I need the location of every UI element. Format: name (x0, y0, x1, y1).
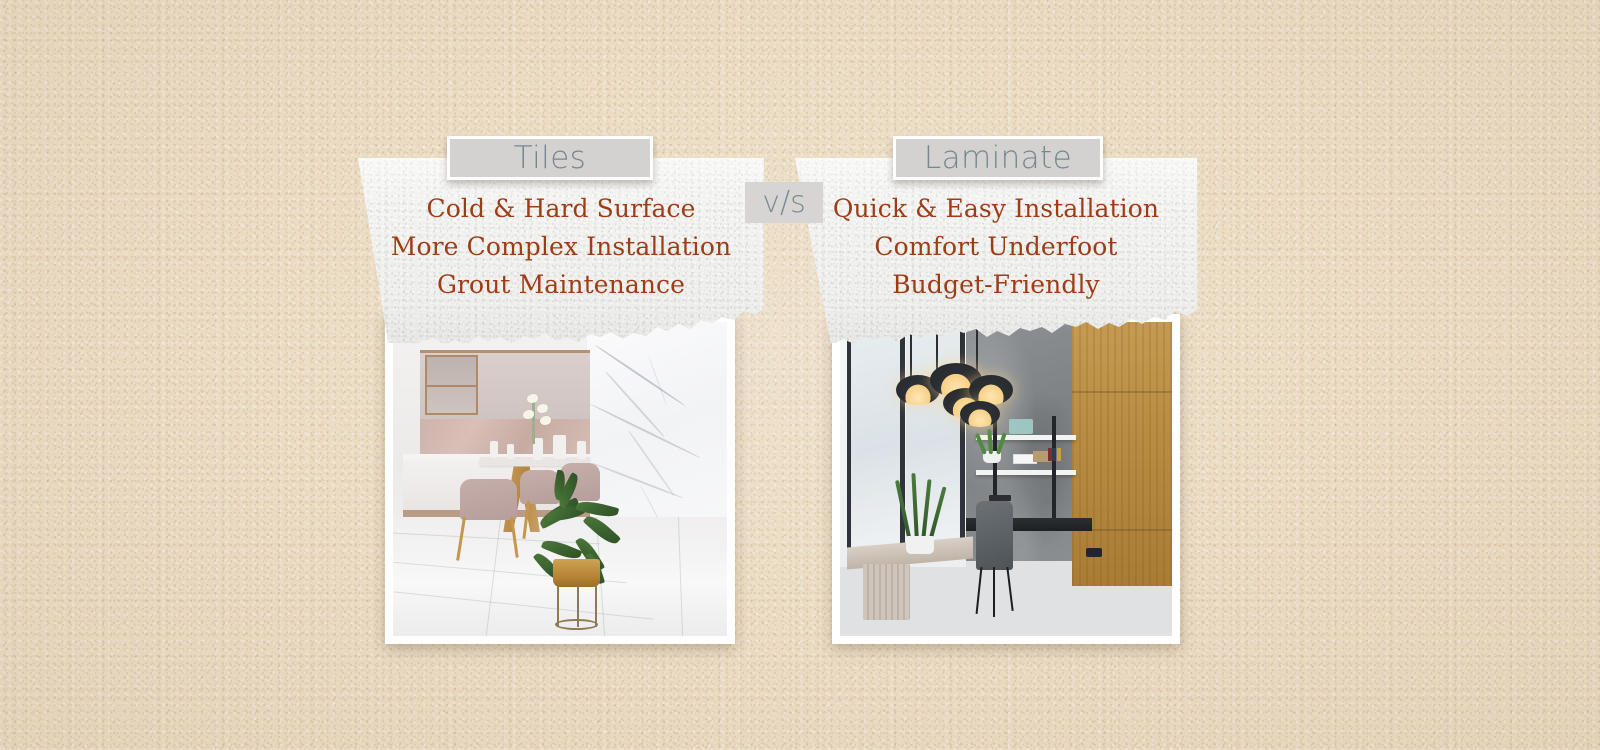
shelf-lower (976, 470, 1076, 475)
table-canister (553, 435, 566, 459)
background-vignette (0, 0, 1600, 750)
table-glass-a (490, 441, 498, 458)
paper-shading-right (795, 158, 1197, 343)
desk-chair (976, 501, 1013, 570)
torn-paper-laminate (795, 158, 1197, 343)
photo-frame-laminate (832, 314, 1180, 644)
shelf-rail-right (1052, 416, 1056, 529)
gold-planter (553, 559, 600, 587)
versus-badge-label: v/s (762, 185, 806, 220)
mint-box (1009, 419, 1033, 434)
orchid-stem (532, 397, 535, 444)
photo-laminate-office (840, 322, 1172, 636)
window-pane-left (850, 335, 900, 542)
photo-frame-tiles (385, 314, 735, 644)
versus-badge: v/s (745, 182, 823, 223)
laminate-floor (840, 573, 1172, 636)
shelf-board (425, 385, 478, 387)
table-glass-b (507, 444, 514, 459)
torn-paper-tiles (358, 158, 764, 343)
photo-tiles-kitchen (393, 322, 727, 636)
page-background (0, 0, 1600, 750)
dining-chair-left (460, 479, 517, 520)
banner-tiles-label: Tiles (514, 140, 586, 176)
snake-plant-pot (906, 536, 934, 554)
table-glass-c (577, 441, 586, 459)
banner-laminate: Laminate (893, 136, 1103, 180)
office-scene (840, 322, 1172, 636)
wood-wardrobe (1072, 322, 1172, 586)
wall-sockets (989, 495, 1011, 501)
table-vase (533, 438, 543, 460)
wall-socket-wood (1086, 548, 1102, 557)
planter-stand-ring (555, 619, 598, 630)
kitchen-scene (393, 322, 727, 636)
banner-laminate-label: Laminate (924, 140, 1072, 176)
banner-tiles: Tiles (447, 136, 653, 180)
pendant-lamp-5 (960, 401, 1000, 427)
paper-shading-left (358, 158, 764, 343)
